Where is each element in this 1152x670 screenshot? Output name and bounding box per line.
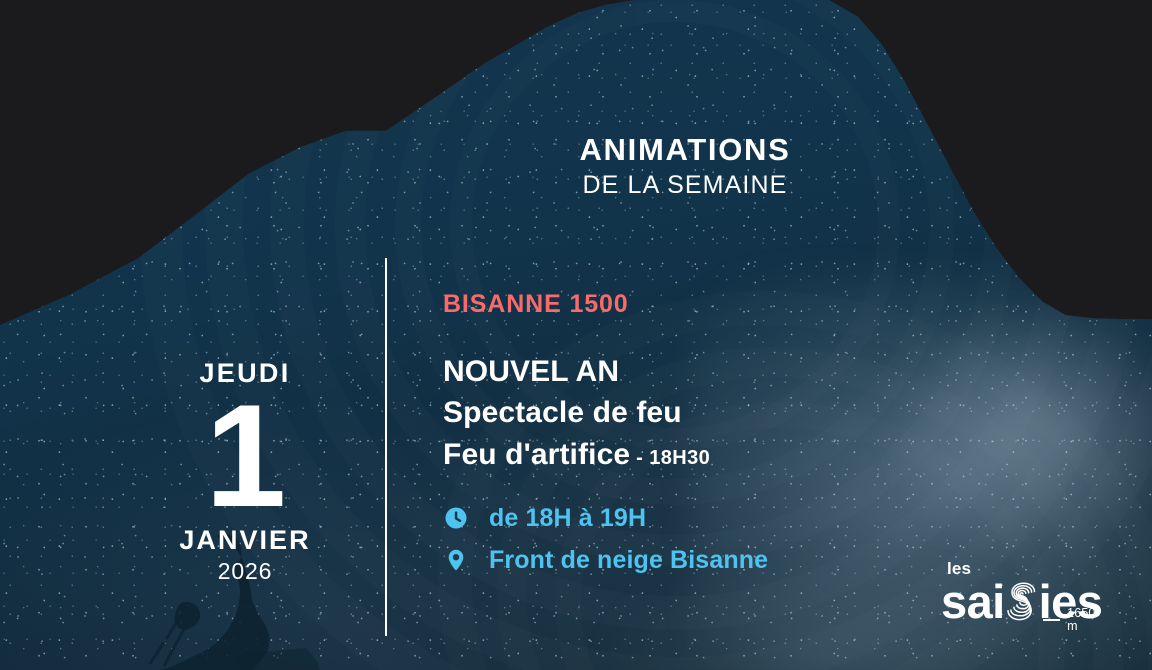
date-month: JANVIER: [120, 527, 370, 554]
date-block: JEUDI 1 JANVIER 2026: [120, 360, 370, 583]
saisies-spiral-s-icon: [1004, 580, 1040, 624]
animations-poster: ANIMATIONS DE LA SEMAINE JEUDI 1 JANVIER…: [0, 0, 1152, 670]
event-start-time: 18H30: [649, 447, 710, 469]
les-saisies-logo: les sai ies 1650 m: [935, 560, 1095, 640]
header-subtitle: DE LA SEMAINE: [385, 170, 985, 201]
clock-icon: [443, 506, 469, 530]
event-title-line-1: NOUVEL AN: [443, 351, 1063, 392]
date-day-number: 1: [120, 389, 370, 523]
logo-word-start: sai: [941, 583, 1005, 622]
date-year: 2026: [120, 560, 370, 583]
event-meta-time-row: de 18H à 19H: [443, 497, 1063, 539]
vertical-divider: [385, 258, 387, 636]
event-location-badge: BISANNE 1500: [443, 292, 1063, 317]
logo-altitude: 1650 m: [1043, 607, 1100, 632]
event-time-text: de 18H à 19H: [489, 506, 646, 531]
event-details: BISANNE 1500 NOUVEL AN Spectacle de feu …: [443, 292, 1063, 581]
event-title-line-3: Feu d'artifice - 18H30: [443, 434, 1063, 475]
event-title-line-3-text: Feu d'artifice: [443, 438, 630, 471]
logo-altitude-text: 1650 m: [1067, 607, 1100, 632]
header-title: ANIMATIONS: [385, 134, 985, 167]
logo-dash-divider: [1043, 619, 1060, 621]
event-place-text: Front de neige Bisanne: [489, 548, 768, 573]
map-pin-icon: [443, 548, 469, 572]
event-title-line-2: Spectacle de feu: [443, 392, 1063, 433]
poster-header: ANIMATIONS DE LA SEMAINE: [385, 134, 985, 201]
